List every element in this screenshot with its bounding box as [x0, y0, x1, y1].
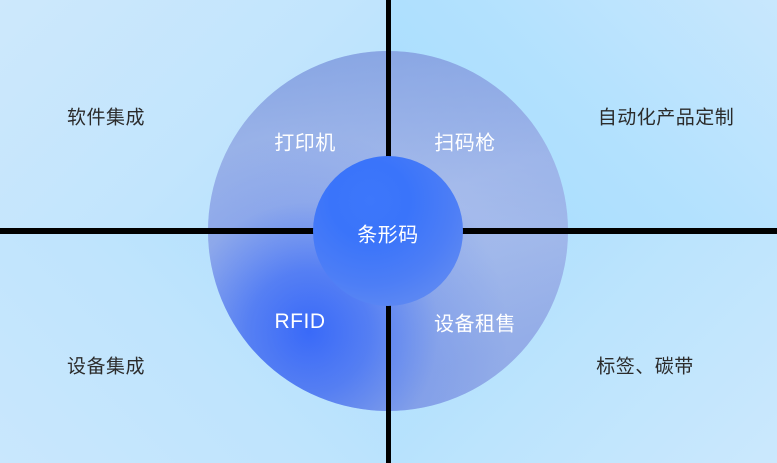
core-label-barcode: 条形码 — [357, 219, 419, 248]
axis-line-vertical-bottom — [386, 304, 391, 463]
inner-label-equipment-rental: 设备租售 — [434, 308, 516, 337]
outer-label-automation-customization: 自动化产品定制 — [598, 103, 735, 130]
outer-label-labels-ribbons: 标签、碳带 — [596, 352, 694, 379]
axis-line-horizontal-left — [0, 228, 315, 234]
inner-label-printer: 打印机 — [274, 127, 336, 156]
axis-line-vertical-top — [386, 0, 391, 158]
axis-line-horizontal-right — [462, 228, 777, 234]
diagram-canvas: 打印机 扫码枪 RFID 设备租售 条形码 软件集成 自动化产品定制 设备集成 … — [0, 0, 777, 463]
inner-label-scanner: 扫码枪 — [434, 127, 496, 156]
outer-label-device-integration: 设备集成 — [67, 352, 145, 379]
inner-label-rfid: RFID — [275, 310, 326, 334]
outer-label-software-integration: 软件集成 — [67, 103, 145, 130]
